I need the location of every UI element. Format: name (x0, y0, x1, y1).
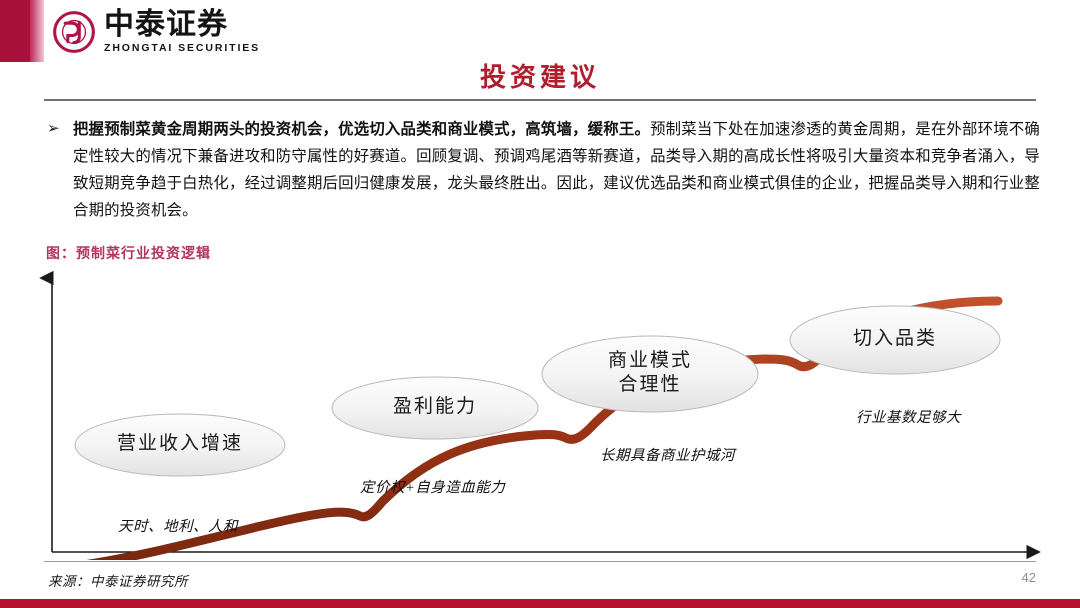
bullet-arrow-icon: ➢ (44, 116, 73, 143)
source-note: 来源：中泰证券研究所 (48, 570, 188, 590)
title-divider (44, 99, 1036, 101)
investment-logic-chart: 营业收入增速 盈利能力 商业模式 合理性 切入品类 天时、地利、人和 定价权+自… (30, 270, 1050, 560)
paragraph-bold: 把握预制菜黄金周期两头的投资机会，优选切入品类和商业模式，高筑墙，缓称王。 (73, 121, 650, 138)
slide-root: 中泰证券 ZHONGTAI SECURITIES 投资建议 ➢ 把握预制菜黄金周… (0, 0, 1080, 608)
company-logo: 中泰证券 ZHONGTAI SECURITIES (52, 10, 260, 54)
figure-caption: 图：预制菜行业投资逻辑 (46, 243, 211, 263)
stage-note-4: 行业基数足够大 (856, 406, 961, 427)
zhongtai-circle-logo-icon (52, 10, 96, 54)
bullet-row: ➢ 把握预制菜黄金周期两头的投资机会，优选切入品类和商业模式，高筑墙，缓称王。预… (44, 116, 1040, 224)
stage-note-3: 长期具备商业护城河 (600, 444, 735, 465)
brand-bar-dark (0, 0, 30, 62)
brand-bar-light (30, 0, 44, 62)
stage-note-2: 定价权+自身造血能力 (360, 476, 505, 497)
page-title: 投资建议 (0, 57, 1080, 94)
footer-accent-bar (0, 599, 1080, 608)
stage-bubble-4 (790, 306, 1000, 374)
paragraph: 把握预制菜黄金周期两头的投资机会，优选切入品类和商业模式，高筑墙，缓称王。预制菜… (73, 116, 1040, 224)
logo-text-cn: 中泰证券 (104, 10, 260, 40)
stage-bubble-2 (332, 377, 538, 439)
stage-note-1: 天时、地利、人和 (118, 515, 238, 536)
page-number: 42 (1022, 570, 1036, 585)
logo-text-en: ZHONGTAI SECURITIES (104, 43, 260, 54)
footer-divider (44, 561, 1036, 562)
stage-bubble-3 (542, 336, 758, 412)
stage-bubble-1 (75, 414, 285, 476)
body-paragraph-block: ➢ 把握预制菜黄金周期两头的投资机会，优选切入品类和商业模式，高筑墙，缓称王。预… (44, 116, 1040, 224)
